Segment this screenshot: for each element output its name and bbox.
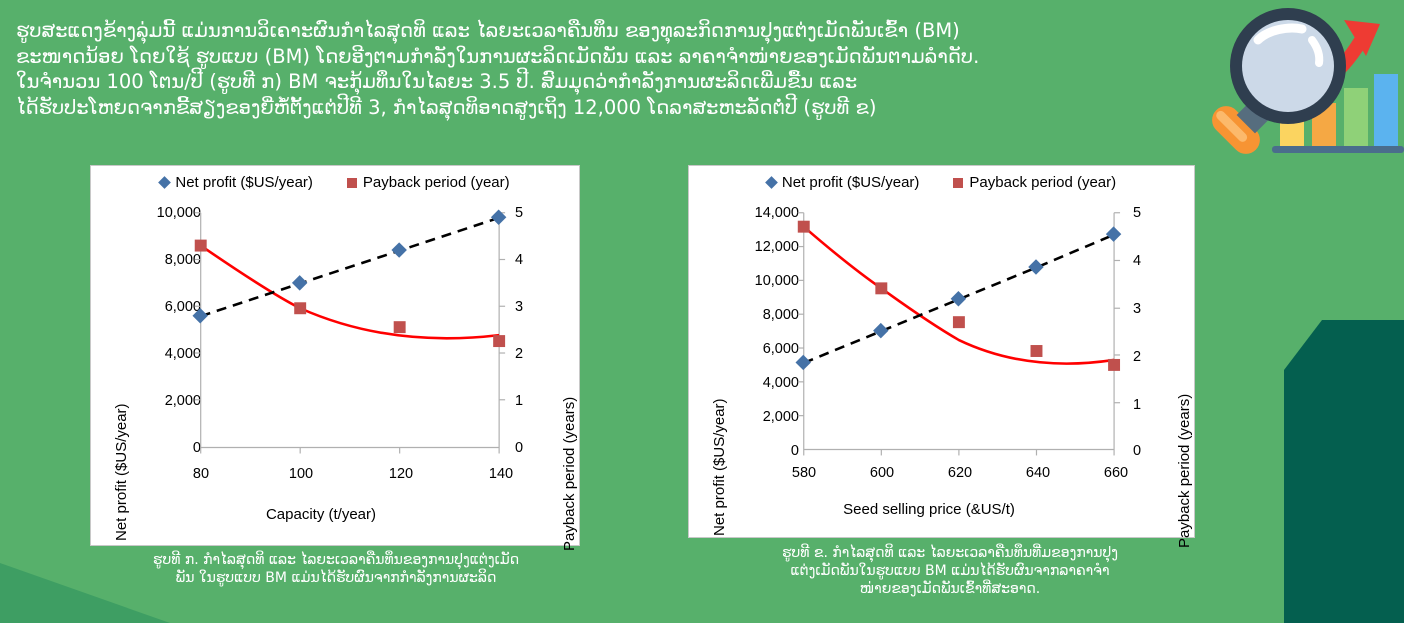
chart-panel-b: Net profit ($US/year) Payback period (ye…: [688, 165, 1195, 538]
chart-baseline: [1272, 146, 1404, 153]
bar-yellow: [1280, 120, 1304, 148]
background-dark-corner-shape: [1284, 320, 1404, 623]
chart-panel-a: Net profit ($US/year) Payback period (ye…: [90, 165, 580, 546]
chart-a-plot-area: [91, 166, 579, 545]
bar-blue: [1374, 74, 1398, 148]
chart-b-plot-area: [689, 166, 1194, 537]
magnifying-glass-growth-icon: [1188, 0, 1404, 170]
header-paragraph: ຮູບສະແດງຂ້າງລຸ່ມນີ້ ແມ່ນການວິເຄາະຜົນກຳໄລ…: [16, 18, 1196, 120]
chart-a-payback-markers: [195, 240, 505, 347]
chart-a-caption: ຮູບທີ ກ. ກຳໄລສຸດທິ ແລະ ໄລຍະເວລາຄືນທຶນຂອງ…: [96, 551, 576, 587]
bar-green: [1344, 88, 1368, 148]
chart-a-payback-line: [201, 246, 499, 339]
chart-b-caption: ຮູບທີ ຂ. ກຳໄລສຸດທິ ແລະ ໄລຍະເວລາຄືນທຶນທີ່…: [700, 544, 1200, 598]
chart-a-net-profit-line: [201, 218, 499, 316]
chart-b-net-profit-markers: [796, 226, 1122, 370]
slide-canvas: ຮູບສະແດງຂ້າງລຸ່ມນີ້ ແມ່ນການວິເຄາະຜົນກຳໄລ…: [0, 0, 1404, 623]
